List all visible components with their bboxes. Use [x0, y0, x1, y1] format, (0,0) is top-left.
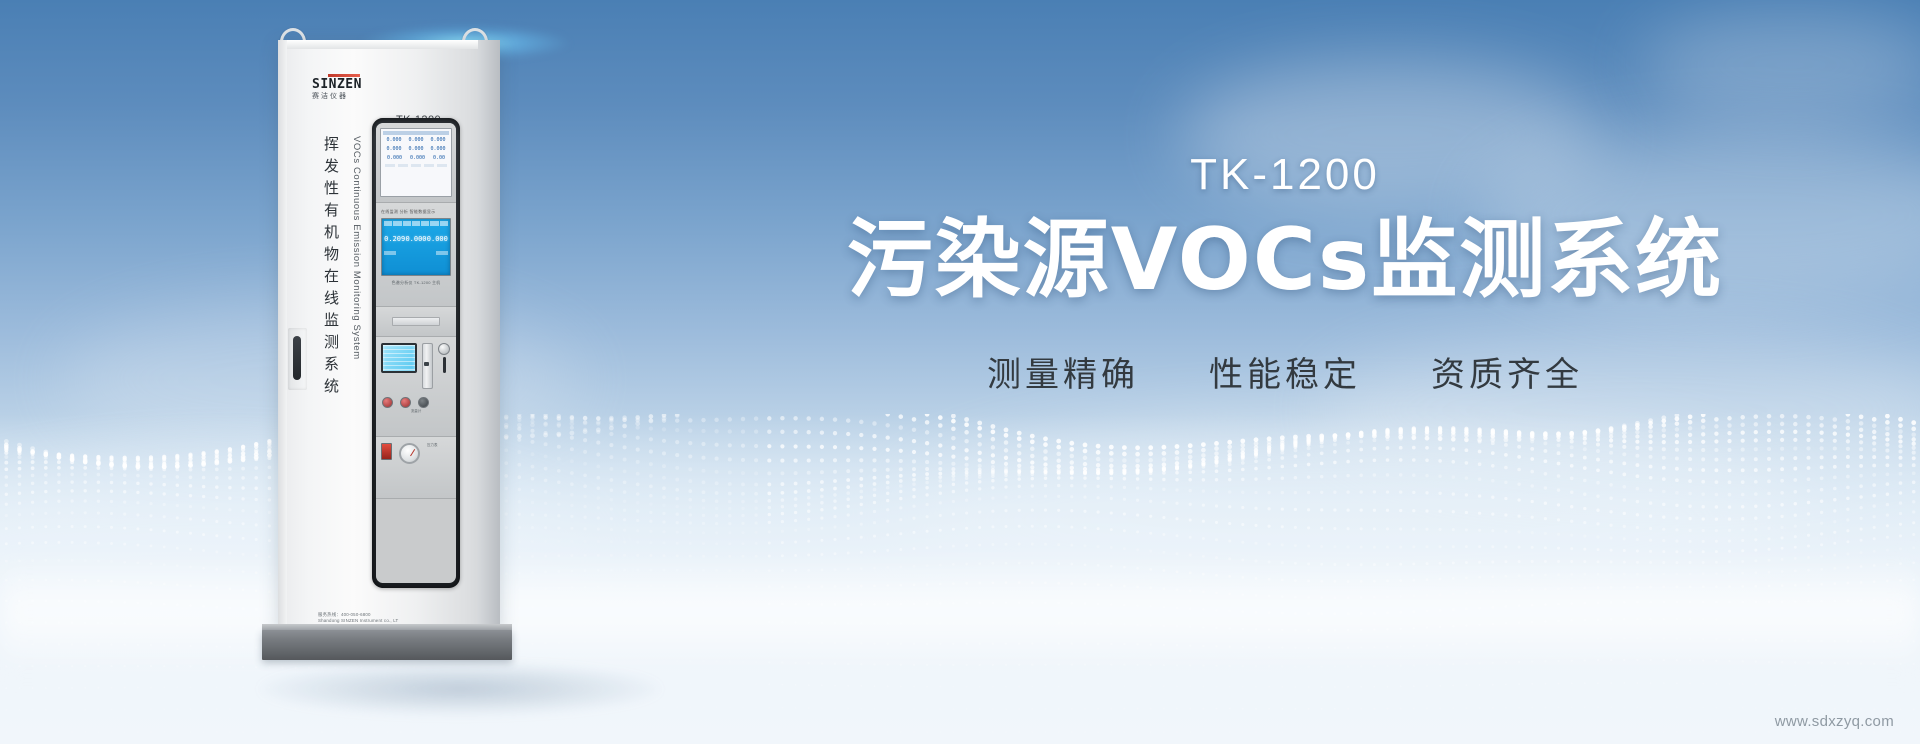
valve-knob[interactable]: [438, 343, 450, 355]
power-module: 压力表: [376, 437, 456, 499]
cabinet-title-en: VOCs Continuous Emission Monitoring Syst…: [351, 136, 362, 360]
screen-cell: [424, 164, 434, 167]
cabinet-fineprint: 服务热线：400-050-6800 Shandong SINZEN Instru…: [318, 612, 458, 624]
brand-name: SINZEN: [312, 78, 386, 92]
flow-meter: [422, 343, 433, 389]
lcd-unit-label: 在线监测 分析 智能数据显示: [381, 209, 451, 215]
screen-value: 0.000: [430, 137, 445, 143]
cabinet-title-cn: 挥发性有机物在线监测系统: [321, 136, 342, 400]
lcd-unit-footer: 色谱分析仪 TK-1200 主机: [381, 280, 451, 286]
hero-model: TK-1200: [760, 150, 1810, 200]
screen-value: 0.000: [410, 155, 425, 161]
screen-value-row: 0.000 0.000 0.00: [383, 155, 449, 161]
hero-banner: SINZEN 赛洁仪器 TK-1200 挥发性有机物在线监测系统 VOCs Co…: [0, 0, 1920, 744]
screen-value: 0.000: [408, 146, 423, 152]
cabinet-right-side: [478, 40, 500, 630]
hero-feature-item: 性能稳定: [1209, 347, 1361, 396]
door-handle[interactable]: [293, 336, 301, 380]
screen-cell: [437, 164, 447, 167]
lcd-tab: [430, 221, 438, 226]
lcd-tab: [393, 221, 401, 226]
lcd-readout-row: 0.209 0.000 0.000: [384, 235, 448, 243]
lcd-tab: [440, 221, 448, 226]
screen-cell: [398, 164, 408, 167]
push-button-row: [381, 397, 451, 408]
screen-value: 0.000: [408, 137, 423, 143]
flow-meter-label: 流量计: [381, 409, 451, 414]
valve-lever[interactable]: [443, 357, 446, 373]
control-row: [381, 343, 451, 389]
screen-footer-grid: [383, 164, 449, 167]
pressure-gauge-label: 压力表: [427, 443, 438, 448]
run-button[interactable]: [382, 397, 393, 408]
lcd-status-chip: [384, 251, 396, 255]
hero-feature-item: 资质齐全: [1431, 347, 1583, 396]
cabinet-plinth: [262, 630, 512, 660]
instrument-stack: 0.000 0.000 0.000 0.000 0.000 0.000 0.00…: [376, 123, 456, 583]
screen-cell: [411, 164, 421, 167]
analyzer-screen[interactable]: 0.000 0.000 0.000 0.000 0.000 0.000 0.00…: [380, 128, 452, 197]
hero-feature-item: 测量精确: [987, 347, 1139, 396]
gauge-needle: [410, 449, 415, 456]
hero-headline: 污染源VOCs监测系统: [760, 214, 1810, 307]
analyzer-display-unit: 0.000 0.000 0.000 0.000 0.000 0.000 0.00…: [376, 123, 456, 203]
ground-shadow: [260, 663, 660, 715]
lcd-tab: [421, 221, 429, 226]
power-switch[interactable]: [381, 443, 392, 460]
cabinet-body: SINZEN 赛洁仪器 TK-1200 挥发性有机物在线监测系统 VOCs Co…: [278, 40, 500, 630]
brand-logo: SINZEN 赛洁仪器: [312, 74, 386, 101]
lcd-tab: [403, 221, 411, 226]
cloud-blob: [1640, 10, 1920, 120]
instrument-window: 0.000 0.000 0.000 0.000 0.000 0.000 0.00…: [372, 118, 460, 588]
stop-button[interactable]: [418, 397, 429, 408]
lcd-status-bar: [384, 251, 448, 255]
hmi-screen-content: [383, 345, 415, 371]
lcd-tab: [384, 221, 392, 226]
site-watermark: www.sdxzyq.com: [1775, 713, 1894, 730]
cabinet-left-edge: [278, 40, 287, 630]
reset-button[interactable]: [400, 397, 411, 408]
hero-feature-list: 测量精确 性能稳定 资质齐全: [760, 347, 1810, 396]
control-module: 流量计: [376, 337, 456, 437]
product-cabinet: SINZEN 赛洁仪器 TK-1200 挥发性有机物在线监测系统 VOCs Co…: [300, 18, 620, 728]
screen-titlebar: [383, 131, 449, 135]
lcd-tab: [412, 221, 420, 226]
lcd-status-chip: [436, 251, 448, 255]
pressure-gauge: [399, 443, 420, 464]
screen-value: 0.00: [433, 155, 445, 161]
brand-name-cn: 赛洁仪器: [312, 92, 386, 101]
lcd-screen[interactable]: 0.209 0.000 0.000: [381, 218, 451, 276]
screen-value: 0.000: [387, 155, 402, 161]
valve-group: [438, 343, 450, 389]
lcd-readout: 0.000: [405, 235, 426, 243]
lcd-tab-bar: [384, 221, 448, 226]
lcd-readout: 0.209: [384, 235, 405, 243]
blank-module: [376, 307, 456, 337]
screen-value: 0.000: [430, 146, 445, 152]
screen-value: 0.000: [386, 146, 401, 152]
lcd-readout: 0.000: [427, 235, 448, 243]
hmi-touchscreen[interactable]: [381, 343, 417, 373]
flow-float: [424, 362, 429, 366]
cabinet-top-edge: [278, 40, 500, 49]
screen-cell: [385, 164, 395, 167]
hero-copy: TK-1200 污染源VOCs监测系统 测量精确 性能稳定 资质齐全: [760, 150, 1810, 396]
module-slot: [392, 317, 440, 326]
screen-value-row: 0.000 0.000 0.000: [383, 146, 449, 152]
screen-value-row: 0.000 0.000 0.000: [383, 137, 449, 143]
screen-value: 0.000: [386, 137, 401, 143]
lcd-unit: 在线监测 分析 智能数据显示: [376, 203, 456, 307]
